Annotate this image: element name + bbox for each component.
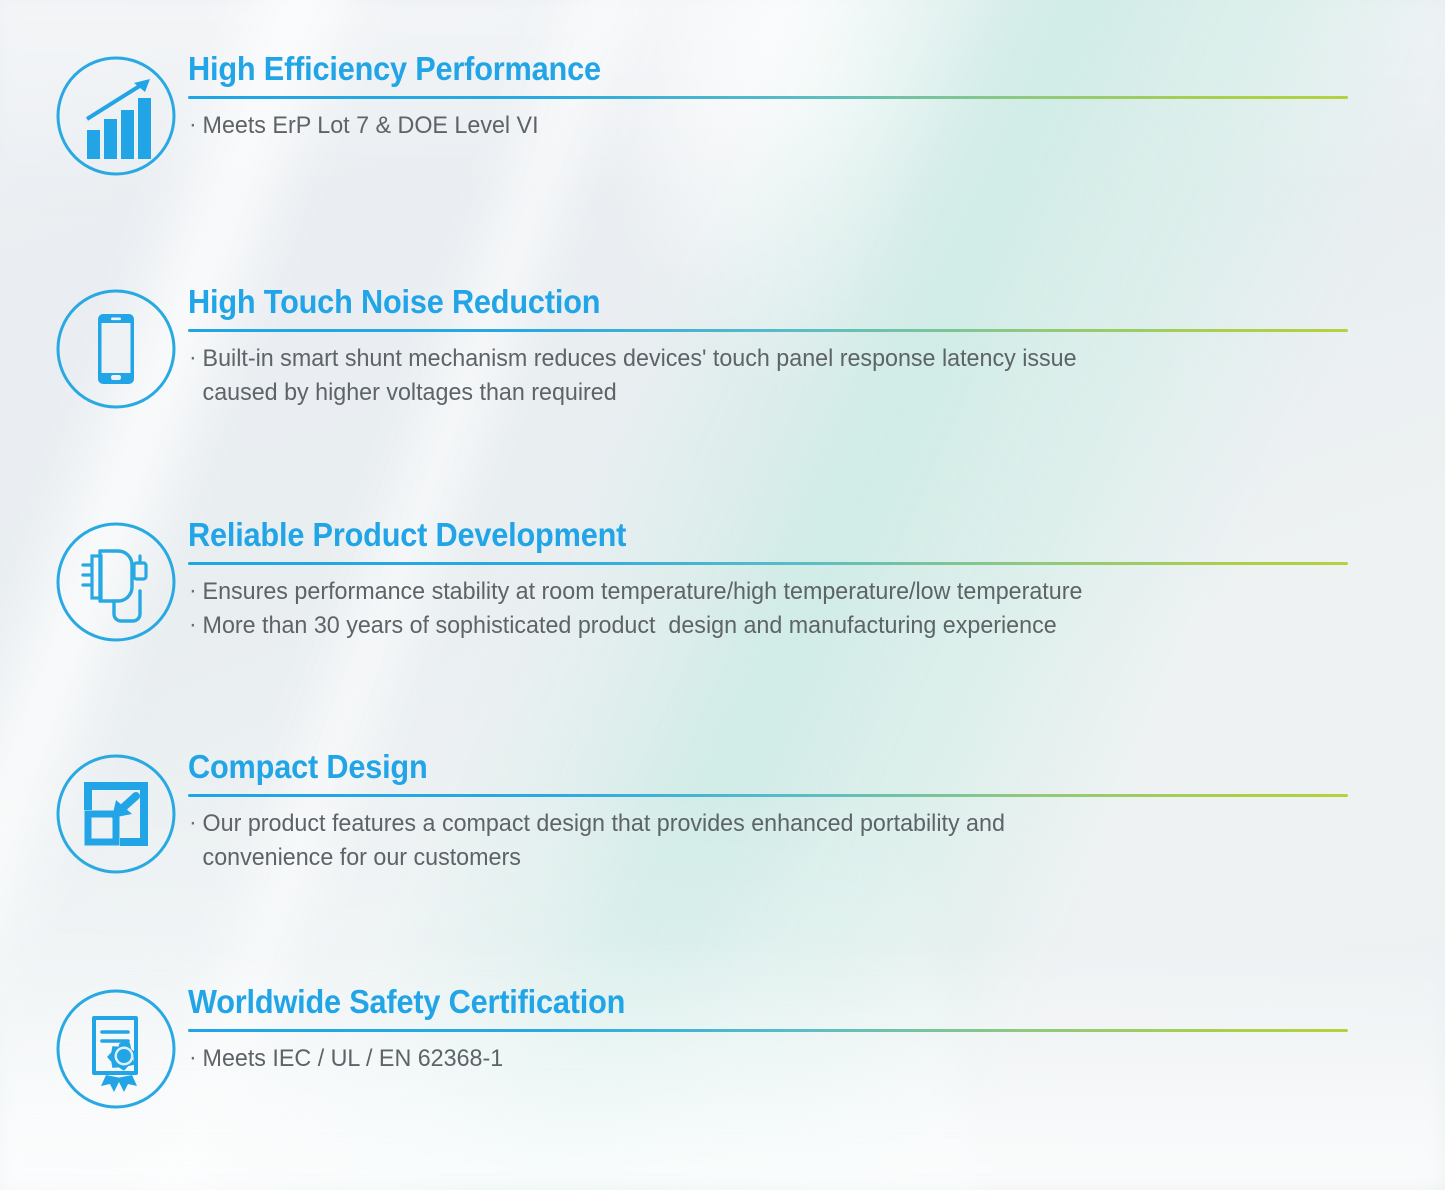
feature-title: High Efficiency Performance bbox=[188, 52, 1357, 87]
feature-divider bbox=[188, 1029, 1348, 1032]
feature-bullet: Meets IEC / UL / EN 62368-1 bbox=[188, 1042, 1407, 1076]
smartphone-icon bbox=[52, 285, 180, 411]
feature-item-high-touch-noise-reduction: High Touch Noise Reduction Built-in smar… bbox=[0, 285, 1445, 411]
feature-item-compact-design: Compact Design Our product features a co… bbox=[0, 750, 1445, 876]
bar-chart-growth-icon bbox=[52, 52, 180, 178]
feature-divider bbox=[188, 329, 1348, 332]
feature-title: High Touch Noise Reduction bbox=[188, 285, 1357, 320]
feature-item-worldwide-safety-certification: Worldwide Safety Certification Meets IEC… bbox=[0, 985, 1445, 1111]
feature-bullet: Meets ErP Lot 7 & DOE Level VI bbox=[188, 109, 1407, 143]
feature-bullet-list: Our product features a compact design th… bbox=[188, 807, 1445, 875]
feature-divider bbox=[188, 96, 1348, 99]
compact-resize-icon bbox=[52, 750, 180, 876]
feature-bullet: Built-in smart shunt mechanism reduces d… bbox=[188, 342, 1407, 410]
feature-divider bbox=[188, 562, 1348, 565]
feature-bullet-list: Meets ErP Lot 7 & DOE Level VI bbox=[188, 109, 1445, 143]
feature-list-panel: High Efficiency Performance Meets ErP Lo… bbox=[0, 0, 1445, 1190]
feature-bullet-list: Built-in smart shunt mechanism reduces d… bbox=[188, 342, 1445, 410]
feature-title: Worldwide Safety Certification bbox=[188, 985, 1357, 1020]
feature-title: Compact Design bbox=[188, 750, 1357, 785]
feature-bullet: Ensures performance stability at room te… bbox=[188, 575, 1407, 609]
certificate-award-icon bbox=[52, 985, 180, 1111]
feature-item-reliable-product-development: Reliable Product Development Ensures per… bbox=[0, 518, 1445, 644]
power-adapter-icon bbox=[52, 518, 180, 644]
feature-item-high-efficiency-performance: High Efficiency Performance Meets ErP Lo… bbox=[0, 52, 1445, 178]
feature-title: Reliable Product Development bbox=[188, 518, 1357, 553]
feature-bullet-list: Ensures performance stability at room te… bbox=[188, 575, 1445, 643]
feature-bullet: Our product features a compact design th… bbox=[188, 807, 1407, 875]
feature-bullet-list: Meets IEC / UL / EN 62368-1 bbox=[188, 1042, 1445, 1076]
feature-divider bbox=[188, 794, 1348, 797]
feature-bullet: More than 30 years of sophisticated prod… bbox=[188, 609, 1407, 643]
